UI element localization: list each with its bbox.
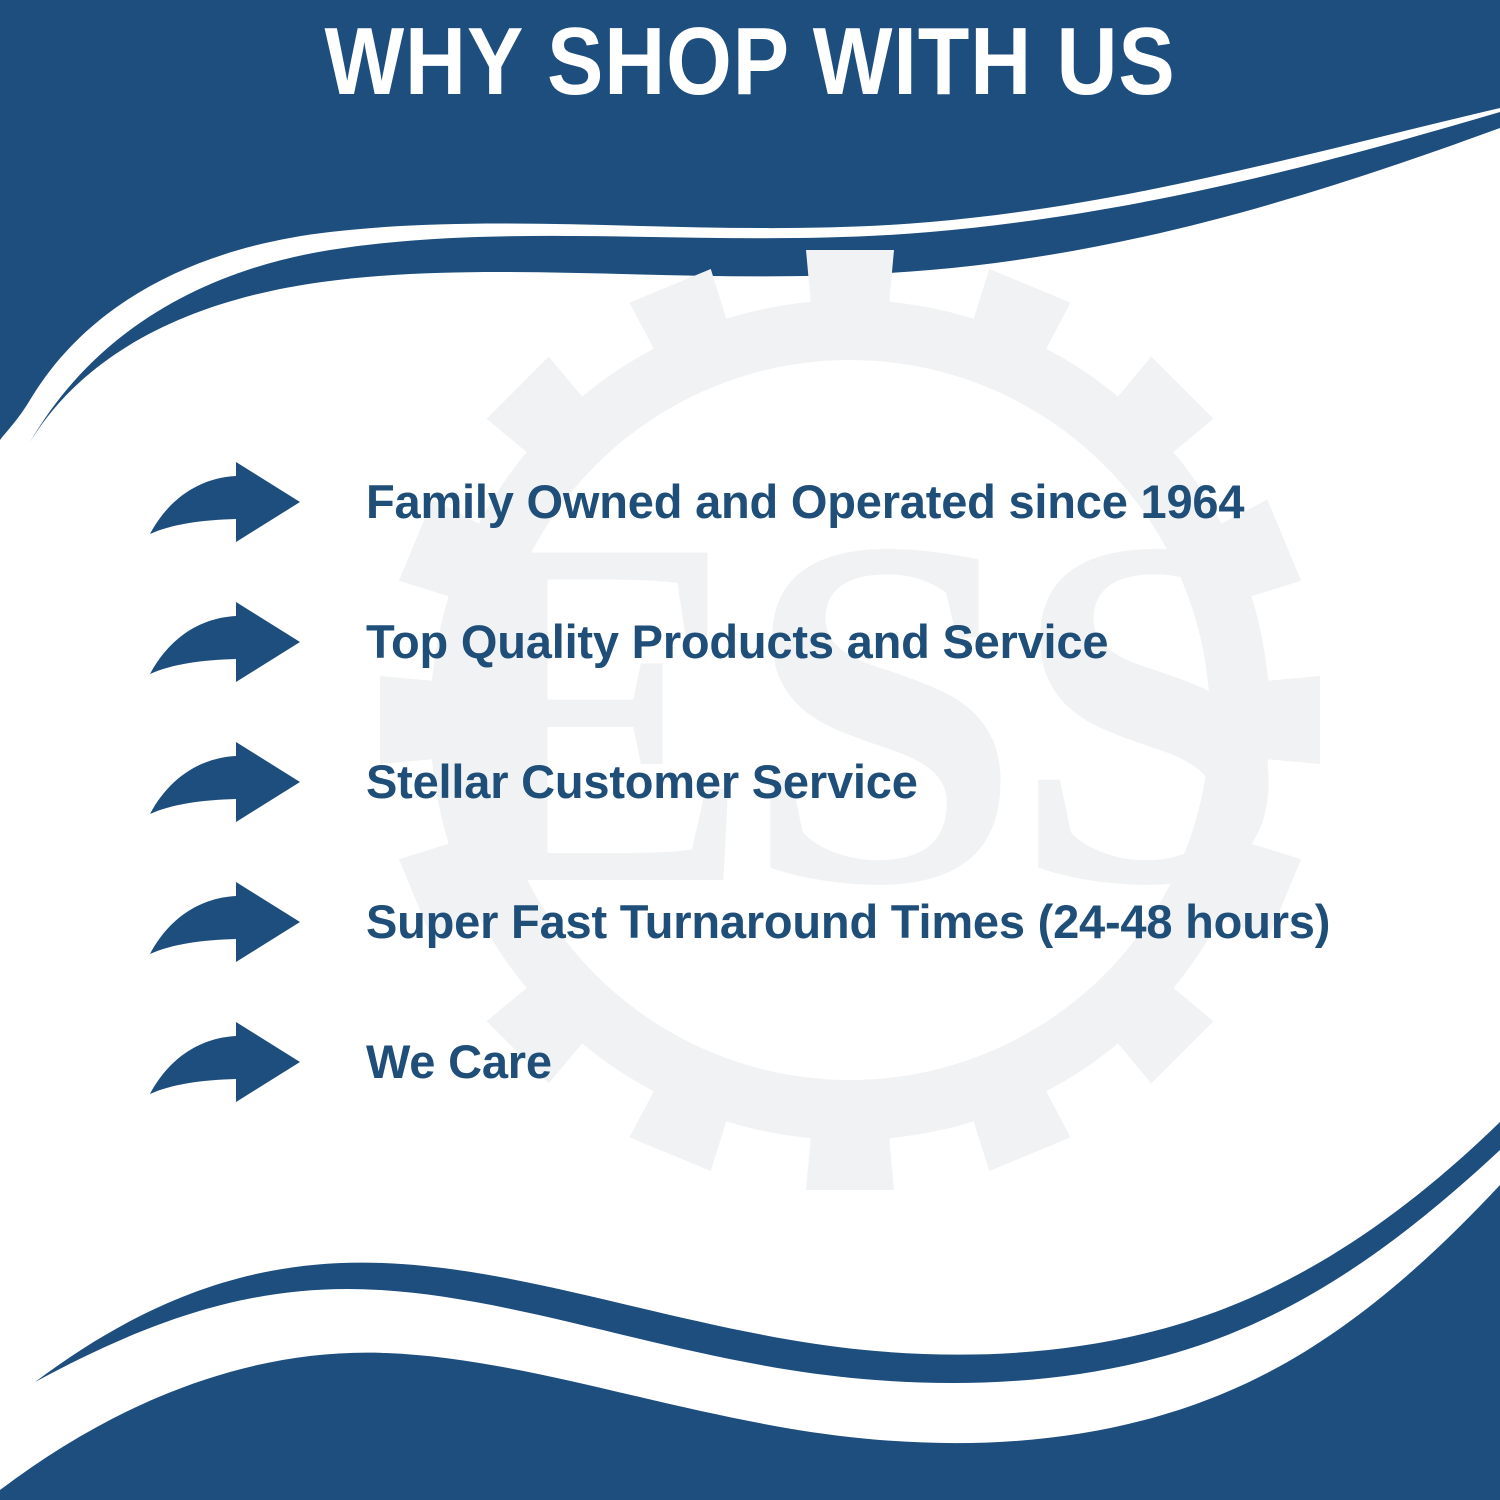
promo-graphic: ESS WHY SHOP WITH US Family Owned and Op… bbox=[0, 0, 1500, 1500]
benefit-item: Super Fast Turnaround Times (24-48 hours… bbox=[150, 852, 1450, 992]
benefit-item: Stellar Customer Service bbox=[150, 712, 1450, 852]
benefits-list: Family Owned and Operated since 1964 Top… bbox=[150, 432, 1450, 1132]
benefit-item: Top Quality Products and Service bbox=[150, 572, 1450, 712]
content-layer: WHY SHOP WITH US Family Owned and Operat… bbox=[0, 0, 1500, 1500]
curved-arrow-right-icon bbox=[150, 1022, 300, 1102]
curved-arrow-right-icon bbox=[150, 882, 300, 962]
benefit-label: Family Owned and Operated since 1964 bbox=[366, 477, 1244, 526]
benefit-label: Top Quality Products and Service bbox=[366, 617, 1108, 666]
curved-arrow-right-icon bbox=[150, 602, 300, 682]
benefit-item: Family Owned and Operated since 1964 bbox=[150, 432, 1450, 572]
benefit-label: Super Fast Turnaround Times (24-48 hours… bbox=[366, 897, 1330, 946]
benefit-label: We Care bbox=[366, 1037, 552, 1086]
benefit-item: We Care bbox=[150, 992, 1450, 1132]
curved-arrow-right-icon bbox=[150, 742, 300, 822]
page-title: WHY SHOP WITH US bbox=[90, 14, 1410, 110]
curved-arrow-right-icon bbox=[150, 462, 300, 542]
benefit-label: Stellar Customer Service bbox=[366, 757, 918, 806]
